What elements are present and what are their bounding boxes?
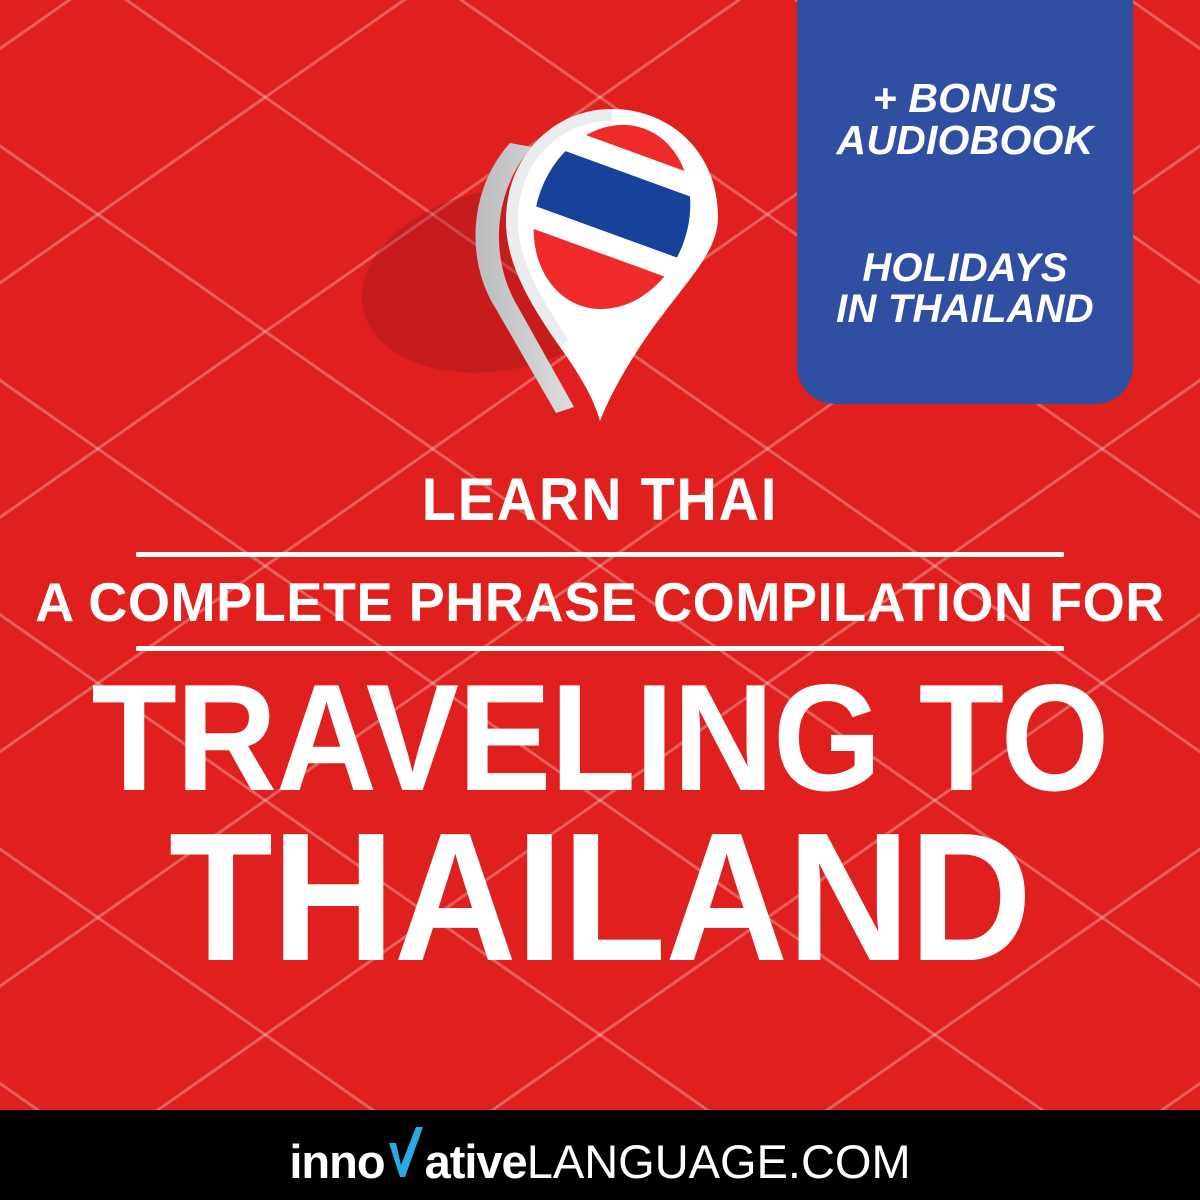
bonus-audiobook-text: + BONUS AUDIOBOOK	[797, 78, 1133, 162]
bonus-badge: + BONUS AUDIOBOOK HOLIDAYS IN THAILAND	[797, 0, 1133, 404]
title-line-traveling-to: TRAVELING TO	[48, 669, 1152, 809]
bonus-line-1: + BONUS	[797, 78, 1133, 120]
main-title: TRAVELING TO THAILAND	[0, 669, 1200, 981]
title-line-thailand: THAILAND	[42, 813, 1158, 981]
footer-bar: inno ative LANGUAGE.COM	[0, 1110, 1200, 1200]
holidays-line-1: HOLIDAYS	[797, 248, 1133, 289]
logo-text-ative: ative	[425, 1138, 527, 1185]
logo-text-language-com: LANGUAGE.COM	[527, 1138, 911, 1185]
map-pin-thailand-flag-icon	[360, 95, 760, 435]
headline-block: LEARN THAI A COMPLETE PHRASE COMPILATION…	[0, 470, 1200, 981]
checkmark-icon	[385, 1126, 425, 1178]
logo-text-inno: inno	[289, 1138, 384, 1185]
innovative-language-logo[interactable]: inno ative LANGUAGE.COM	[289, 1126, 910, 1185]
subtitle-phrase-compilation: A COMPLETE PHRASE COMPILATION FOR	[9, 575, 1191, 630]
holidays-line-2: IN THAILAND	[797, 289, 1133, 330]
bonus-line-2: AUDIOBOOK	[797, 120, 1133, 162]
divider-rule-bottom	[136, 646, 1064, 651]
holidays-in-thailand-text: HOLIDAYS IN THAILAND	[797, 248, 1133, 330]
eyebrow-learn-thai: LEARN THAI	[42, 470, 1158, 538]
audiobook-cover: + BONUS AUDIOBOOK HOLIDAYS IN THAILAND L…	[0, 0, 1200, 1200]
divider-rule-top	[136, 552, 1064, 557]
